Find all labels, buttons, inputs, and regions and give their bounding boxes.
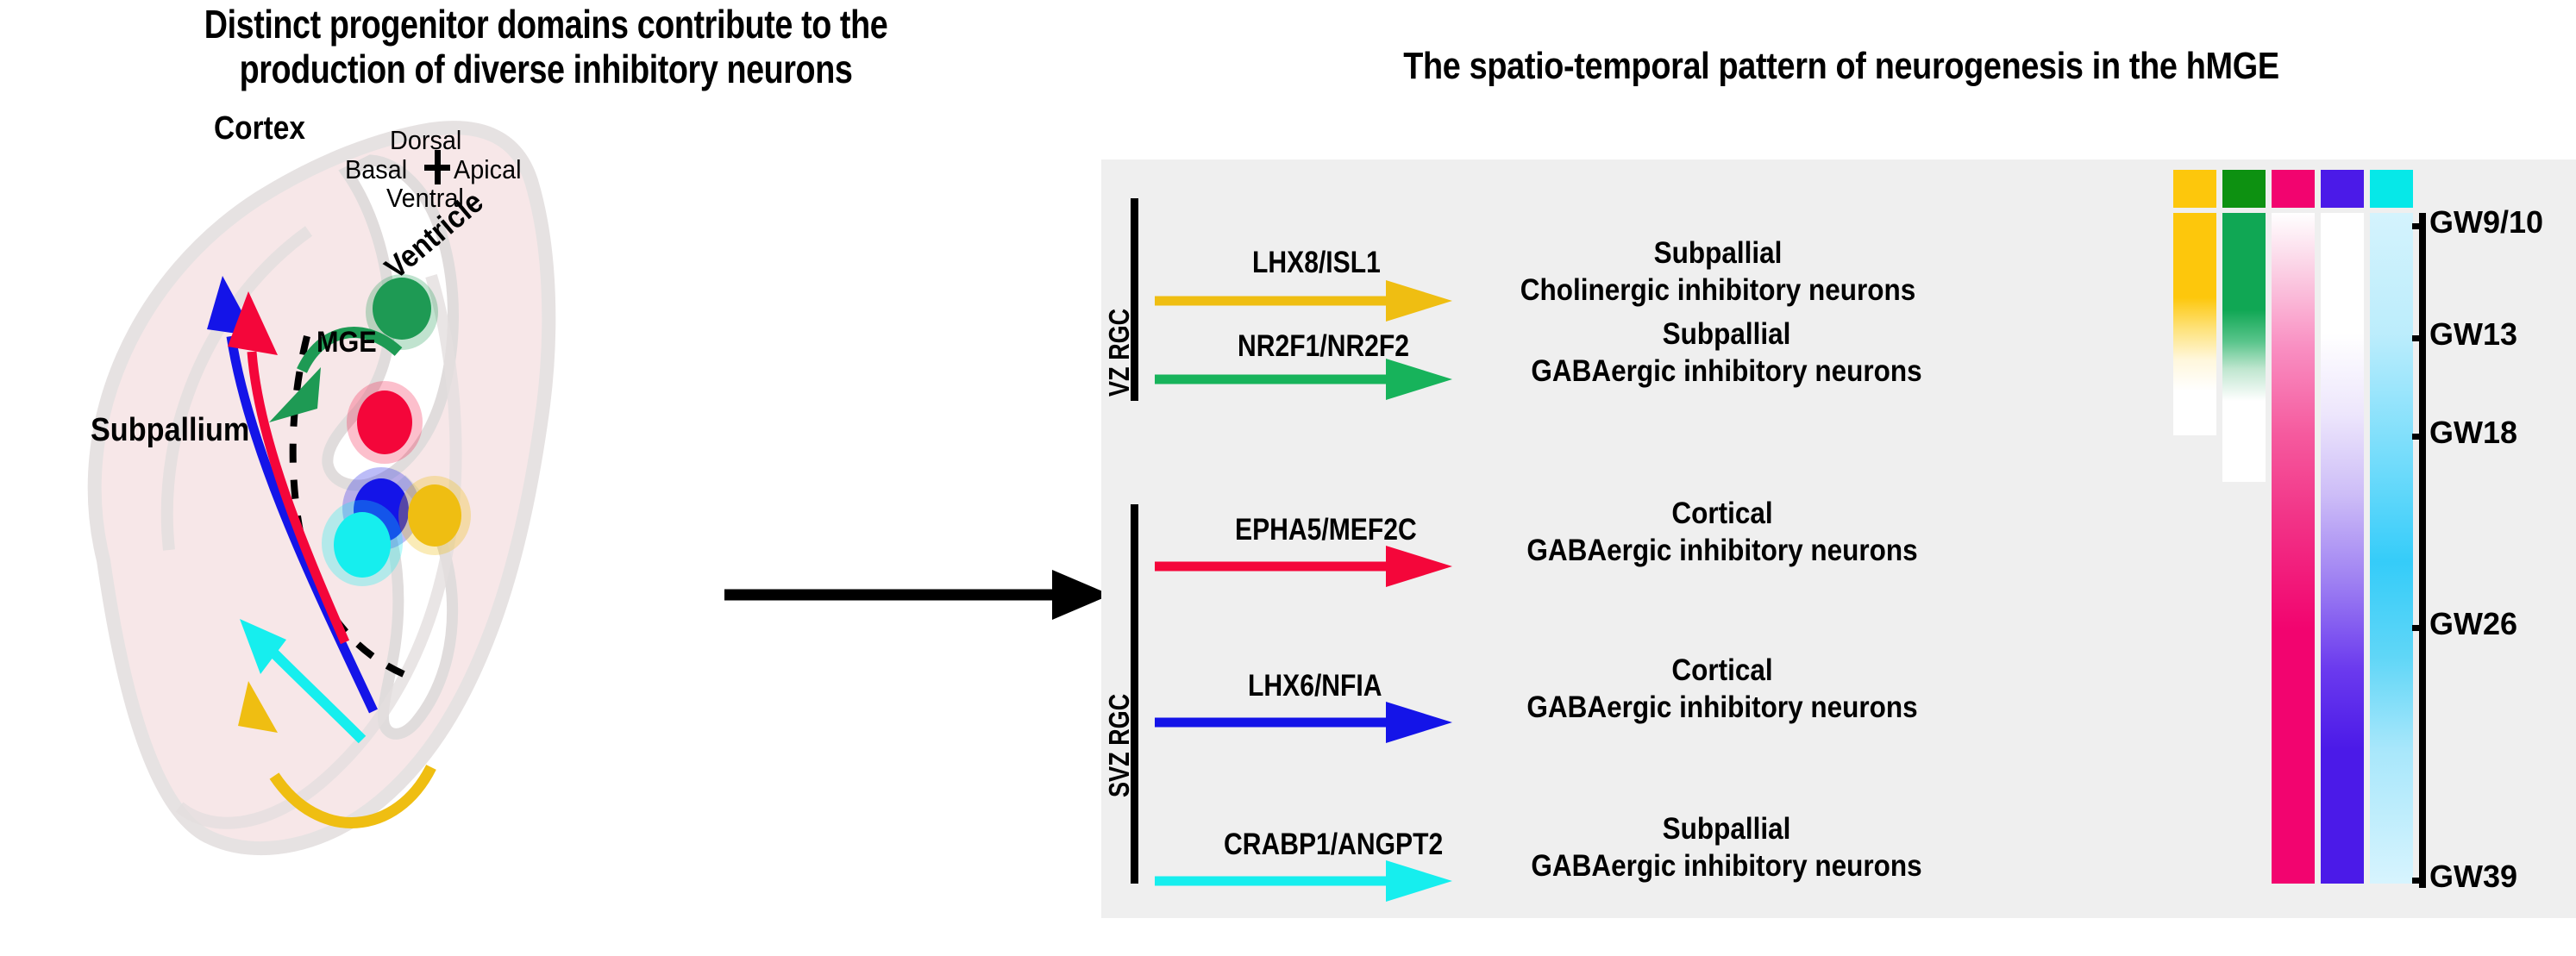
panel-connector-arrow bbox=[724, 556, 1113, 634]
brain-schematic-panel: Cortex Subpallium MGE Ventricle Dorsal V… bbox=[0, 78, 1104, 956]
yellow-domain bbox=[408, 484, 461, 547]
neurogenesis-panel: VZ RGC SVZ RGC LHX8/ISL1 Subpallial Chol… bbox=[1101, 159, 2576, 918]
red-domain bbox=[357, 391, 412, 454]
orientation-cross-icon bbox=[424, 150, 450, 184]
cyan-domain bbox=[334, 512, 391, 578]
swatch-lhx8-isl1 bbox=[2173, 170, 2216, 208]
tick-label-gw13: GW13 bbox=[2429, 316, 2517, 353]
gradient-bar-epha5-mef2c bbox=[2272, 213, 2315, 884]
tick-label-gw26: GW26 bbox=[2429, 606, 2517, 642]
left-title-line-1: Distinct progenitor domains contribute t… bbox=[104, 2, 988, 47]
tick-label-gw39: GW39 bbox=[2429, 859, 2517, 895]
timeline-axis-line bbox=[2419, 213, 2426, 888]
right-panel-title: The spatio-temporal pattern of neurogene… bbox=[1214, 45, 2467, 88]
tick-gw26 bbox=[2412, 625, 2426, 631]
swatch-crabp1-angpt2 bbox=[2370, 170, 2413, 208]
swatch-lhx6-nfia bbox=[2321, 170, 2364, 208]
label-apical: Apical bbox=[454, 154, 522, 185]
gradient-bar-lhx8-isl1 bbox=[2173, 213, 2216, 435]
swatch-epha5-mef2c bbox=[2272, 170, 2315, 208]
gradient-bar-lhx6-nfia bbox=[2321, 213, 2364, 884]
gradient-bar-nr2f1-nr2f2 bbox=[2222, 213, 2266, 482]
label-basal: Basal bbox=[345, 154, 407, 185]
label-cortex: Cortex bbox=[214, 110, 305, 147]
tick-label-gw18: GW18 bbox=[2429, 415, 2517, 451]
swatch-nr2f1-nr2f2 bbox=[2222, 170, 2266, 208]
label-subpallium: Subpallium bbox=[91, 412, 249, 449]
brain-diagram-svg bbox=[0, 78, 1104, 956]
gradient-bar-crabp1-angpt2 bbox=[2370, 213, 2413, 884]
tick-gw9-10 bbox=[2412, 223, 2426, 229]
label-mge: MGE bbox=[317, 326, 377, 359]
tick-gw39 bbox=[2412, 878, 2426, 884]
tick-gw18 bbox=[2412, 434, 2426, 440]
tick-gw13 bbox=[2412, 335, 2426, 341]
label-ventral: Ventral bbox=[386, 183, 464, 214]
tick-label-gw9-10: GW9/10 bbox=[2429, 204, 2543, 241]
timeline-widget: GW9/10 GW13 GW18 GW26 GW39 bbox=[1101, 159, 2576, 918]
ventricle-green-domain bbox=[373, 278, 431, 340]
